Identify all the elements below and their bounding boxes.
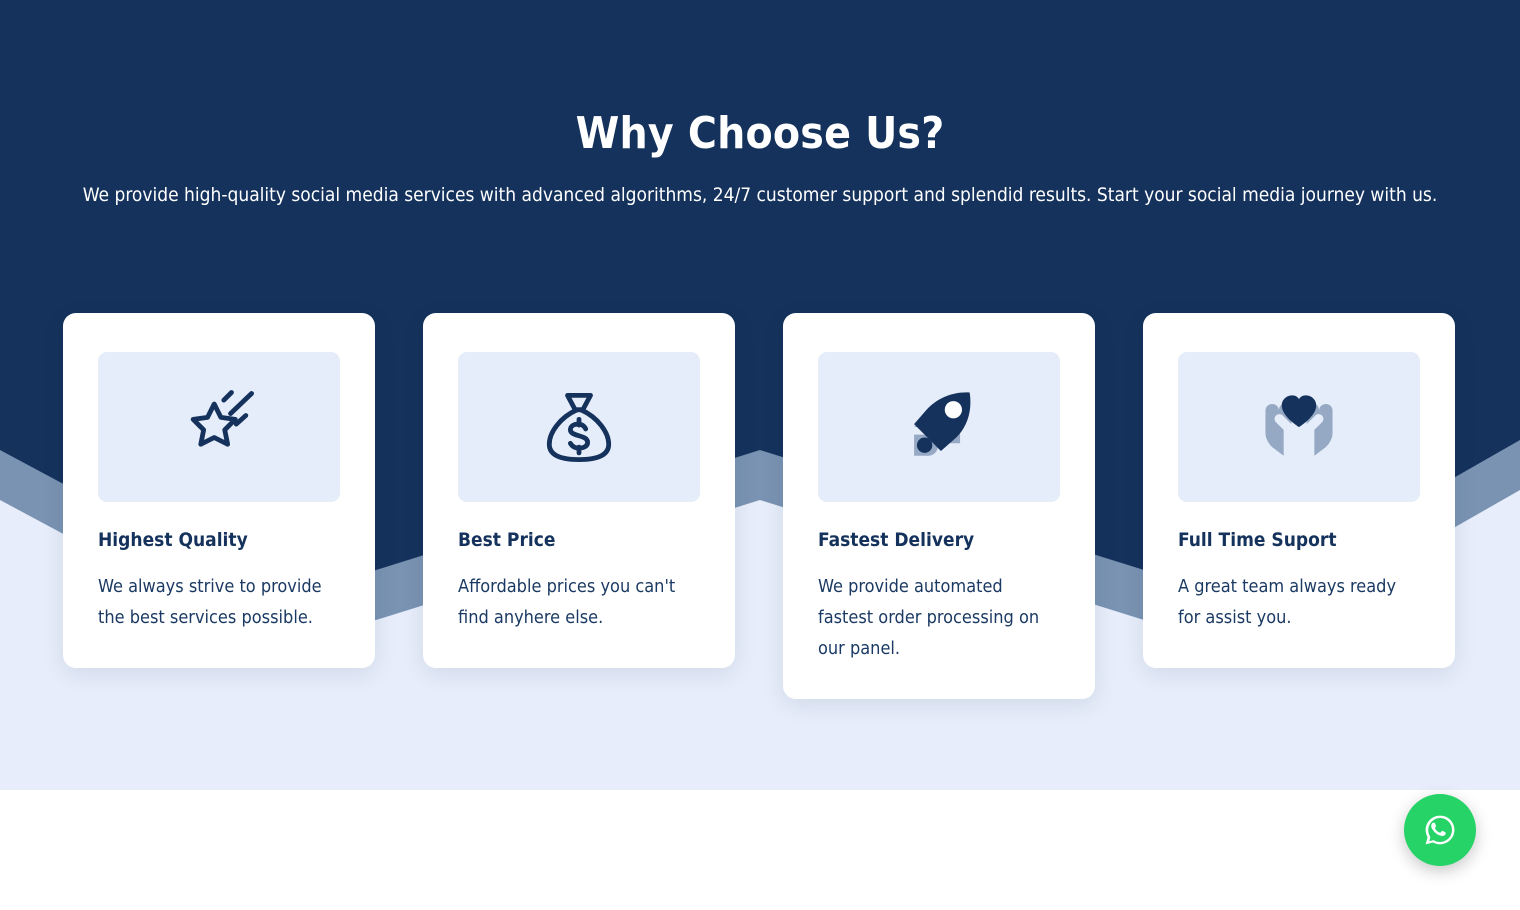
feature-card-fastest-delivery[interactable]: Fastest Delivery We provide automated fa… [783, 313, 1095, 699]
card-description: A great team always ready for assist you… [1178, 572, 1420, 634]
card-title: Best Price [458, 529, 700, 552]
whatsapp-icon [1422, 812, 1458, 848]
feature-card-full-time-support[interactable]: Full Time Suport A great team always rea… [1143, 313, 1455, 668]
rocket-icon [893, 381, 985, 473]
card-title: Highest Quality [98, 529, 340, 552]
card-title: Fastest Delivery [818, 529, 1060, 552]
hands-heart-icon [1253, 381, 1345, 473]
money-bag-icon [533, 381, 625, 473]
feature-cards: Highest Quality We always strive to prov… [0, 0, 1520, 790]
icon-tile [818, 352, 1060, 502]
icon-tile [458, 352, 700, 502]
feature-card-highest-quality[interactable]: Highest Quality We always strive to prov… [63, 313, 375, 668]
card-description: Affordable prices you can't find anyhere… [458, 572, 700, 634]
why-choose-us-section: Why Choose Us? We provide high-quality s… [0, 0, 1520, 910]
feature-card-best-price[interactable]: Best Price Affordable prices you can't f… [423, 313, 735, 668]
icon-tile [98, 352, 340, 502]
card-description: We always strive to provide the best ser… [98, 572, 340, 634]
card-title: Full Time Suport [1178, 529, 1420, 552]
icon-tile [1178, 352, 1420, 502]
shooting-star-icon [173, 381, 265, 473]
card-description: We provide automated fastest order proce… [818, 572, 1060, 665]
whatsapp-chat-button[interactable] [1404, 794, 1476, 866]
